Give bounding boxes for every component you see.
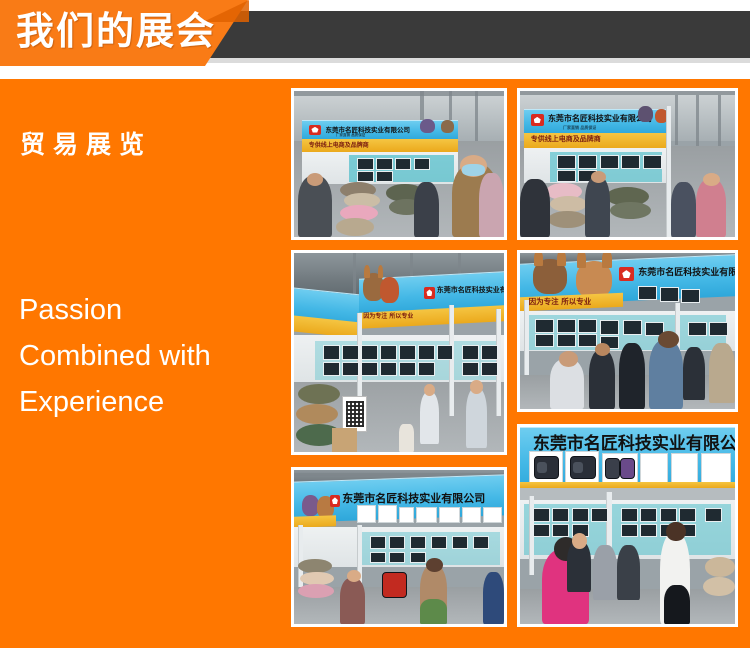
- banner-company-name: 东莞市名匠科技实业有限公司: [548, 113, 652, 124]
- photo-corner-booth-wide-view: 东莞市名匠科技实业有限公司 因为专注 所以专业: [291, 250, 507, 455]
- page-header: 我们的展会: [0, 0, 750, 76]
- banner-company-name: 东莞市名匠科技实业有限公司: [533, 429, 735, 454]
- photo-wide-booth-display: 东莞市名匠科技实业有限公司: [291, 467, 507, 627]
- exhibition-showcase-page: 我们的展会 贸易展览 Passion Combined with Experie…: [0, 0, 750, 661]
- content-panel: 贸易展览 Passion Combined with Experience 东莞…: [0, 79, 750, 648]
- photo-booth-interior-visitors: 东莞市名匠科技实业有限公司 因为专注 所以专业: [517, 250, 738, 412]
- tagline-line-2: Combined with: [19, 333, 269, 379]
- photo-booth-front-crowd: 东莞市名匠科技实业有限公司 厂家直销 品质保证 专供线上电商及品牌商: [517, 88, 738, 240]
- banner-company-name: 东莞市名匠科技实业有限公司: [638, 265, 735, 278]
- page-title: 我们的展会: [16, 7, 216, 57]
- header-bar-shadow: [118, 58, 750, 63]
- banner-slogan: 因为专注 所以专业: [529, 296, 592, 307]
- banner-subtext: 厂家直销 品质保证: [563, 125, 596, 131]
- section-subtitle: 贸易展览: [20, 125, 152, 161]
- tagline-block: Passion Combined with Experience: [19, 287, 269, 425]
- banner-slogan: 专供线上电商及品牌商: [531, 134, 601, 144]
- photo-trade-show-booth-crowd: 东莞市名匠科技实业有限公司 厂家直销 品质保证 专供线上电商及品牌商: [291, 88, 507, 240]
- photo-booth-product-wall: 东莞市名匠科技实业有限公司: [517, 424, 738, 627]
- banner-company-name: 东莞市名匠科技实业有限公司: [437, 285, 504, 295]
- banner-company-name: 东莞市名匠科技实业有限公司: [342, 490, 485, 506]
- banner-slogan: 因为专注 所以专业: [363, 311, 413, 320]
- banner-slogan: 专供线上电商及品牌商: [309, 140, 369, 149]
- tagline-line-3: Experience: [19, 379, 269, 425]
- banner-subtext: 厂家直销 品质保证: [336, 133, 365, 138]
- tagline-line-1: Passion: [19, 287, 269, 333]
